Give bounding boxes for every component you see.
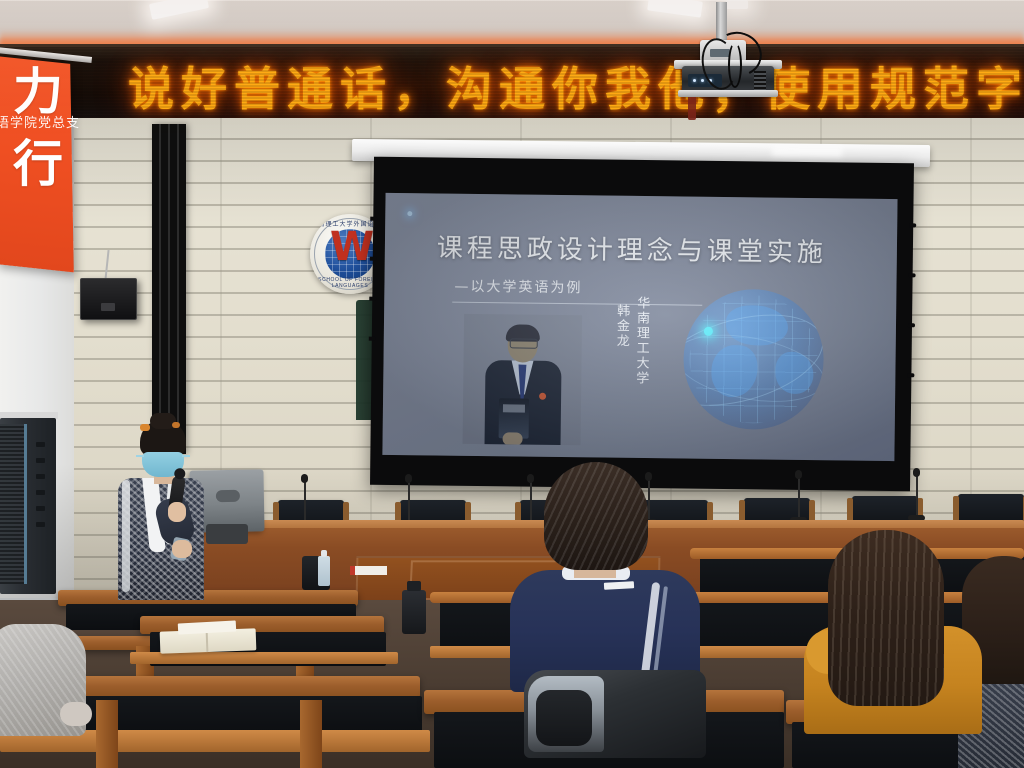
rack-slot — [36, 474, 45, 479]
slide-surface: 课程思政设计理念与课堂实施 —以大学英语为例 韩金龙 华南理工大学 — [382, 193, 897, 461]
ceiling-seam — [0, 0, 1024, 1]
microphone-head-icon — [405, 474, 412, 483]
screen-vignette — [382, 193, 897, 461]
microphone-head-icon — [795, 470, 802, 479]
wall-speaker — [80, 278, 137, 320]
screen-tension-hook — [370, 257, 377, 261]
ceiling-light-icon — [726, 0, 748, 9]
audience-member-right — [800, 530, 1000, 768]
projector-led-icon — [701, 79, 704, 82]
acoustic-column-panel — [152, 124, 186, 454]
presenter-hair-clip — [140, 424, 150, 431]
presenter-hand — [172, 540, 192, 558]
led-banner-text: 说好普通话，沟通你我他；使用规范字，方便 — [128, 53, 1024, 119]
audience-member-far-left — [0, 624, 100, 768]
rack-slot — [36, 458, 45, 463]
rack-slot — [36, 490, 45, 495]
desk-microphone — [408, 480, 410, 524]
desk-microphone — [916, 474, 918, 518]
projector-vent — [754, 71, 766, 90]
projector-led-icon — [693, 79, 696, 82]
presenter-hand — [168, 502, 186, 522]
projection-screen-frame: 课程思政设计理念与课堂实施 —以大学英语为例 韩金龙 华南理工大学 — [370, 157, 914, 492]
projector-cable — [728, 42, 742, 88]
screen-tension-hook — [369, 337, 376, 341]
screen-tension-hook — [369, 297, 376, 301]
screen-tension-hook — [907, 373, 914, 377]
thermos-flask — [402, 590, 426, 634]
podium-nameplate — [350, 566, 387, 575]
lecture-hall-photo: 说好普通话，沟通你我他；使用规范字，方便 W 华南理工大学外国语学院 S — [0, 0, 1024, 768]
microphone-head-icon — [301, 474, 308, 483]
desk-microphone — [304, 480, 306, 524]
audience-member-center — [500, 462, 720, 768]
audience-hair — [828, 530, 944, 706]
audience-hair — [544, 462, 648, 570]
screen-tension-hook — [909, 273, 916, 277]
screen-tension-hook — [909, 223, 916, 227]
rack-slot — [36, 522, 45, 527]
presenter-person — [110, 420, 230, 600]
bench-leg — [300, 700, 322, 768]
microphone-head-icon — [913, 468, 920, 477]
projector-base-plate — [678, 90, 778, 97]
draped-coat-fold — [536, 690, 592, 746]
ceiling-light-icon — [647, 0, 703, 18]
bench-desk-surface — [130, 652, 398, 664]
desk-microphone — [798, 476, 800, 520]
water-bottle — [318, 556, 330, 586]
rack-accent-strip — [24, 424, 27, 584]
screen-tension-hook — [370, 217, 377, 221]
rack-slot — [36, 442, 45, 447]
projector-side-accent — [688, 94, 696, 120]
rack-slot — [36, 506, 45, 511]
banner-sub-text: 语学院党总支 — [0, 112, 82, 131]
presenter-jacket-trim — [122, 480, 130, 592]
audience-hand — [60, 702, 92, 726]
rack-mesh-panel — [0, 424, 24, 584]
projector — [672, 36, 784, 98]
screen-tension-hook — [908, 323, 915, 327]
emblem-letter: W — [330, 232, 370, 266]
presenter-hair-clip — [172, 422, 180, 428]
ceiling-light-icon — [149, 0, 209, 20]
led-scrolling-banner: 说好普通话，沟通你我他；使用规范字，方便 — [0, 44, 1024, 129]
